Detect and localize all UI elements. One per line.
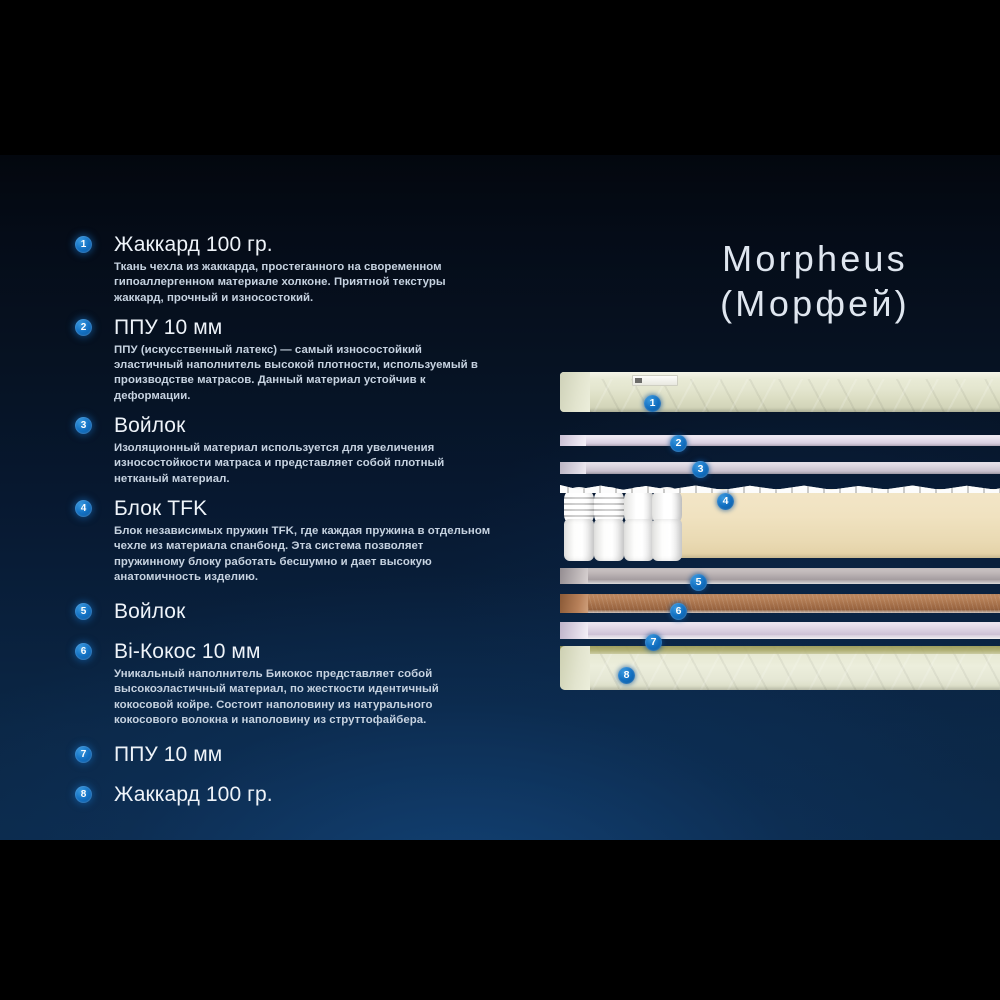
- slab-topstrip: [560, 646, 1000, 654]
- diagram-layer-jacquard-top: [560, 372, 1000, 412]
- product-title-ru: (Морфей): [640, 281, 990, 326]
- callout-1[interactable]: 1: [644, 395, 661, 412]
- layer-badge-1: 1: [75, 236, 92, 253]
- layer-badge-2: 2: [75, 319, 92, 336]
- layer-body-3: Изоляционный материал используется для у…: [114, 441, 492, 487]
- layer-heading-4: Блок TFK: [114, 496, 495, 522]
- slab-edge: [560, 372, 590, 412]
- layer-heading-3: Войлок: [114, 413, 495, 439]
- spring-coil-icon: [594, 487, 624, 557]
- slab-edge: [560, 594, 588, 613]
- layer-body-6: Уникальный наполнитель Бикокос представл…: [114, 667, 492, 728]
- layer-badge-8: 8: [75, 786, 92, 803]
- slab-edge: [560, 462, 586, 474]
- layer-badge-4: 4: [75, 500, 92, 517]
- slide-canvas: 1 Жаккард 100 гр. Ткань чехла из жаккард…: [0, 0, 1000, 1000]
- slab-highlight: [560, 610, 1000, 613]
- diagram-layer-ppu-lower: [560, 622, 1000, 639]
- diagram-layer-felt-upper: [560, 462, 1000, 474]
- mattress-exploded-diagram: 1 2 3 4: [560, 372, 1000, 702]
- list-item[interactable]: 7 ППУ 10 мм: [75, 742, 495, 768]
- layer-heading-8: Жаккард 100 гр.: [114, 782, 495, 808]
- letterbox-top: [0, 0, 1000, 155]
- product-title-en: Morpheus: [722, 238, 908, 279]
- spring-coil-icon: [624, 487, 654, 557]
- callout-4[interactable]: 4: [717, 493, 734, 510]
- slab-face: [560, 462, 1000, 474]
- layer-badge-3: 3: [75, 417, 92, 434]
- list-item[interactable]: 2 ППУ 10 мм ППУ (искусственный латекс) —…: [75, 315, 495, 404]
- slab-edge: [560, 646, 590, 690]
- spring-coil-icon: [564, 487, 594, 557]
- slab-lip: [560, 372, 1000, 379]
- layer-heading-7: ППУ 10 мм: [114, 742, 495, 768]
- layer-body-2: ППУ (искусственный латекс) — самый износ…: [114, 343, 492, 404]
- diagram-layer-felt-lower: [560, 568, 1000, 584]
- slab-face: [560, 435, 1000, 446]
- callout-3[interactable]: 3: [692, 461, 709, 478]
- layer-heading-5: Войлок: [114, 599, 495, 625]
- callout-2[interactable]: 2: [670, 435, 687, 452]
- slab-edge: [560, 622, 588, 639]
- layer-badge-7: 7: [75, 746, 92, 763]
- diagram-layer-bi-coconut: [560, 594, 1000, 613]
- diagram-layer-ppu-upper: [560, 435, 1000, 446]
- diagram-layer-tfk-spring-block: [560, 485, 1000, 558]
- slab-highlight: [560, 580, 1000, 584]
- slab-edge: [560, 568, 588, 584]
- callout-5[interactable]: 5: [690, 574, 707, 591]
- list-item[interactable]: 8 Жаккард 100 гр.: [75, 782, 495, 808]
- list-item[interactable]: 3 Войлок Изоляционный материал используе…: [75, 413, 495, 487]
- slab-edge: [560, 435, 586, 446]
- callout-6[interactable]: 6: [670, 603, 687, 620]
- layer-badge-5: 5: [75, 603, 92, 620]
- list-item[interactable]: 1 Жаккард 100 гр. Ткань чехла из жаккард…: [75, 232, 495, 306]
- layer-heading-6: Bi-Кокос 10 мм: [114, 639, 495, 665]
- fabric-tag-icon: [632, 375, 678, 386]
- letterbox-bottom: [0, 840, 1000, 1000]
- layer-heading-2: ППУ 10 мм: [114, 315, 495, 341]
- spring-coil-icon: [652, 487, 682, 557]
- layer-badge-6: 6: [75, 643, 92, 660]
- callout-8[interactable]: 8: [618, 667, 635, 684]
- list-item[interactable]: 5 Войлок: [75, 599, 495, 625]
- list-item[interactable]: 4 Блок TFK Блок независимых пружин TFK, …: [75, 496, 495, 585]
- layer-spec-list: 1 Жаккард 100 гр. Ткань чехла из жаккард…: [75, 232, 495, 810]
- layer-heading-1: Жаккард 100 гр.: [114, 232, 495, 258]
- layer-body-4: Блок независимых пружин TFK, где каждая …: [114, 524, 492, 585]
- slab-highlight: [560, 635, 1000, 639]
- page-title: Morpheus (Морфей): [640, 236, 990, 326]
- callout-7[interactable]: 7: [645, 634, 662, 651]
- layer-body-1: Ткань чехла из жаккарда, простеганного н…: [114, 260, 492, 306]
- list-item[interactable]: 6 Bi-Кокос 10 мм Уникальный наполнитель …: [75, 639, 495, 728]
